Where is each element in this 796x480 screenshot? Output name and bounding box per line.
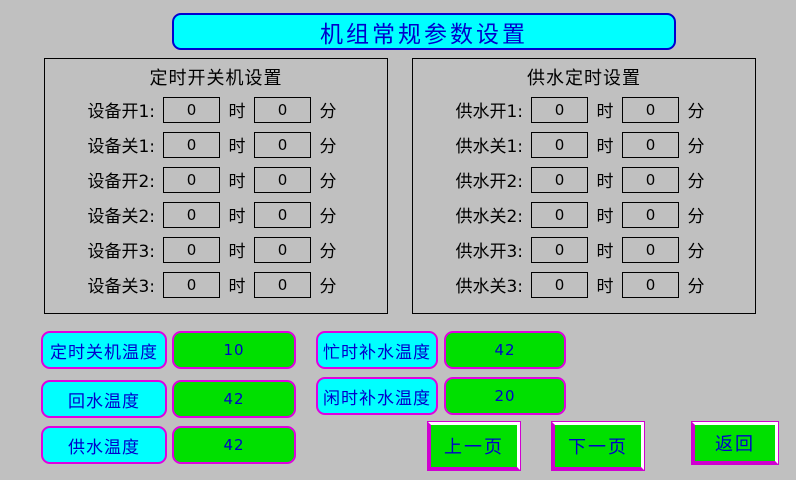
value-shutdown-temperature[interactable]: 10 bbox=[172, 331, 296, 369]
schedule-minute-input[interactable]: 0 bbox=[254, 132, 311, 158]
panel-schedule-header: 定时开关机设置 bbox=[45, 64, 387, 90]
button-supply-water-temperature-label: 供水温度 bbox=[68, 433, 140, 458]
button-shutdown-temperature[interactable]: 定时关机温度 bbox=[41, 331, 167, 369]
water-hour-input[interactable]: 0 bbox=[531, 167, 588, 193]
water-minute-unit: 分 bbox=[679, 237, 713, 262]
schedule-minute-input[interactable]: 0 bbox=[254, 237, 311, 263]
button-return-water-temperature-label: 回水温度 bbox=[68, 387, 140, 412]
value-return-water-temperature-text: 42 bbox=[223, 390, 244, 408]
schedule-row: 设备关2:0时0分 bbox=[45, 197, 387, 232]
value-busy-refill-temperature-text: 42 bbox=[494, 341, 515, 359]
water-minute-unit: 分 bbox=[679, 202, 713, 227]
prev-page-button-label: 上一页 bbox=[444, 433, 504, 459]
water-row: 供水关2:0时0分 bbox=[413, 197, 755, 232]
button-busy-refill-temperature[interactable]: 忙时补水温度 bbox=[316, 331, 438, 369]
panel-schedule-settings: 定时开关机设置 设备开1:0时0分设备关1:0时0分设备开2:0时0分设备关2:… bbox=[44, 58, 388, 314]
schedule-minute-input[interactable]: 0 bbox=[254, 202, 311, 228]
schedule-hour-input[interactable]: 0 bbox=[163, 237, 220, 263]
schedule-minute-unit: 分 bbox=[311, 97, 345, 122]
schedule-row: 设备开1:0时0分 bbox=[45, 92, 387, 127]
water-row: 供水开1:0时0分 bbox=[413, 92, 755, 127]
button-idle-refill-temperature-label: 闲时补水温度 bbox=[323, 384, 431, 409]
water-hour-unit: 时 bbox=[588, 272, 622, 297]
value-return-water-temperature[interactable]: 42 bbox=[172, 380, 296, 418]
water-row-label: 供水开3: bbox=[413, 237, 531, 262]
schedule-hour-unit: 时 bbox=[220, 167, 254, 192]
water-minute-unit: 分 bbox=[679, 272, 713, 297]
schedule-minute-unit: 分 bbox=[311, 237, 345, 262]
schedule-row: 设备开2:0时0分 bbox=[45, 162, 387, 197]
page-title-bar: 机组常规参数设置 bbox=[172, 13, 676, 50]
water-hour-input[interactable]: 0 bbox=[531, 202, 588, 228]
schedule-row: 设备关1:0时0分 bbox=[45, 127, 387, 162]
prev-page-button[interactable]: 上一页 bbox=[428, 422, 520, 470]
schedule-hour-unit: 时 bbox=[220, 97, 254, 122]
button-return-water-temperature[interactable]: 回水温度 bbox=[41, 380, 167, 418]
water-hour-unit: 时 bbox=[588, 167, 622, 192]
water-row: 供水开2:0时0分 bbox=[413, 162, 755, 197]
water-hour-unit: 时 bbox=[588, 132, 622, 157]
button-busy-refill-temperature-label: 忙时补水温度 bbox=[323, 338, 431, 363]
schedule-hour-input[interactable]: 0 bbox=[163, 132, 220, 158]
value-shutdown-temperature-text: 10 bbox=[223, 341, 244, 359]
schedule-minute-input[interactable]: 0 bbox=[254, 272, 311, 298]
water-hour-unit: 时 bbox=[588, 202, 622, 227]
water-row: 供水开3:0时0分 bbox=[413, 232, 755, 267]
schedule-minute-unit: 分 bbox=[311, 202, 345, 227]
water-minute-unit: 分 bbox=[679, 97, 713, 122]
schedule-minute-input[interactable]: 0 bbox=[254, 97, 311, 123]
water-minute-input[interactable]: 0 bbox=[622, 167, 679, 193]
water-hour-input[interactable]: 0 bbox=[531, 272, 588, 298]
water-hour-input[interactable]: 0 bbox=[531, 132, 588, 158]
water-minute-input[interactable]: 0 bbox=[622, 97, 679, 123]
value-busy-refill-temperature[interactable]: 42 bbox=[444, 331, 566, 369]
button-supply-water-temperature[interactable]: 供水温度 bbox=[41, 426, 167, 464]
next-page-button-label: 下一页 bbox=[568, 433, 628, 459]
back-button-label: 返回 bbox=[715, 430, 755, 456]
schedule-row: 设备开3:0时0分 bbox=[45, 232, 387, 267]
schedule-hour-input[interactable]: 0 bbox=[163, 167, 220, 193]
water-minute-input[interactable]: 0 bbox=[622, 272, 679, 298]
value-supply-water-temperature[interactable]: 42 bbox=[172, 426, 296, 464]
schedule-row-label: 设备开2: bbox=[45, 167, 163, 192]
schedule-hour-input[interactable]: 0 bbox=[163, 272, 220, 298]
schedule-hour-input[interactable]: 0 bbox=[163, 202, 220, 228]
schedule-hour-unit: 时 bbox=[220, 202, 254, 227]
schedule-minute-unit: 分 bbox=[311, 132, 345, 157]
schedule-row: 设备关3:0时0分 bbox=[45, 267, 387, 302]
panel-water-settings: 供水定时设置 供水开1:0时0分供水关1:0时0分供水开2:0时0分供水关2:0… bbox=[412, 58, 756, 314]
water-row-label: 供水关2: bbox=[413, 202, 531, 227]
schedule-row-label: 设备开1: bbox=[45, 97, 163, 122]
water-row: 供水关3:0时0分 bbox=[413, 267, 755, 302]
back-button[interactable]: 返回 bbox=[692, 422, 778, 464]
water-minute-unit: 分 bbox=[679, 132, 713, 157]
water-row-label: 供水开2: bbox=[413, 167, 531, 192]
schedule-minute-input[interactable]: 0 bbox=[254, 167, 311, 193]
next-page-button[interactable]: 下一页 bbox=[552, 422, 644, 470]
schedule-hour-unit: 时 bbox=[220, 272, 254, 297]
panel-water-header: 供水定时设置 bbox=[413, 64, 755, 90]
water-minute-unit: 分 bbox=[679, 167, 713, 192]
water-minute-input[interactable]: 0 bbox=[622, 202, 679, 228]
water-row-label: 供水关1: bbox=[413, 132, 531, 157]
water-row-label: 供水开1: bbox=[413, 97, 531, 122]
value-idle-refill-temperature[interactable]: 20 bbox=[444, 377, 566, 415]
schedule-hour-input[interactable]: 0 bbox=[163, 97, 220, 123]
water-hour-input[interactable]: 0 bbox=[531, 237, 588, 263]
water-minute-input[interactable]: 0 bbox=[622, 237, 679, 263]
button-idle-refill-temperature[interactable]: 闲时补水温度 bbox=[316, 377, 438, 415]
schedule-minute-unit: 分 bbox=[311, 167, 345, 192]
water-rows-container: 供水开1:0时0分供水关1:0时0分供水开2:0时0分供水关2:0时0分供水开3… bbox=[413, 92, 755, 302]
schedule-row-label: 设备关3: bbox=[45, 272, 163, 297]
water-row-label: 供水关3: bbox=[413, 272, 531, 297]
schedule-row-label: 设备关2: bbox=[45, 202, 163, 227]
water-hour-unit: 时 bbox=[588, 237, 622, 262]
page-title: 机组常规参数设置 bbox=[320, 15, 528, 49]
water-hour-unit: 时 bbox=[588, 97, 622, 122]
schedule-hour-unit: 时 bbox=[220, 132, 254, 157]
schedule-hour-unit: 时 bbox=[220, 237, 254, 262]
water-minute-input[interactable]: 0 bbox=[622, 132, 679, 158]
schedule-rows-container: 设备开1:0时0分设备关1:0时0分设备开2:0时0分设备关2:0时0分设备开3… bbox=[45, 92, 387, 302]
water-row: 供水关1:0时0分 bbox=[413, 127, 755, 162]
value-supply-water-temperature-text: 42 bbox=[223, 436, 244, 454]
schedule-row-label: 设备关1: bbox=[45, 132, 163, 157]
schedule-minute-unit: 分 bbox=[311, 272, 345, 297]
button-shutdown-temperature-label: 定时关机温度 bbox=[50, 338, 158, 363]
value-idle-refill-temperature-text: 20 bbox=[494, 387, 515, 405]
water-hour-input[interactable]: 0 bbox=[531, 97, 588, 123]
schedule-row-label: 设备开3: bbox=[45, 237, 163, 262]
